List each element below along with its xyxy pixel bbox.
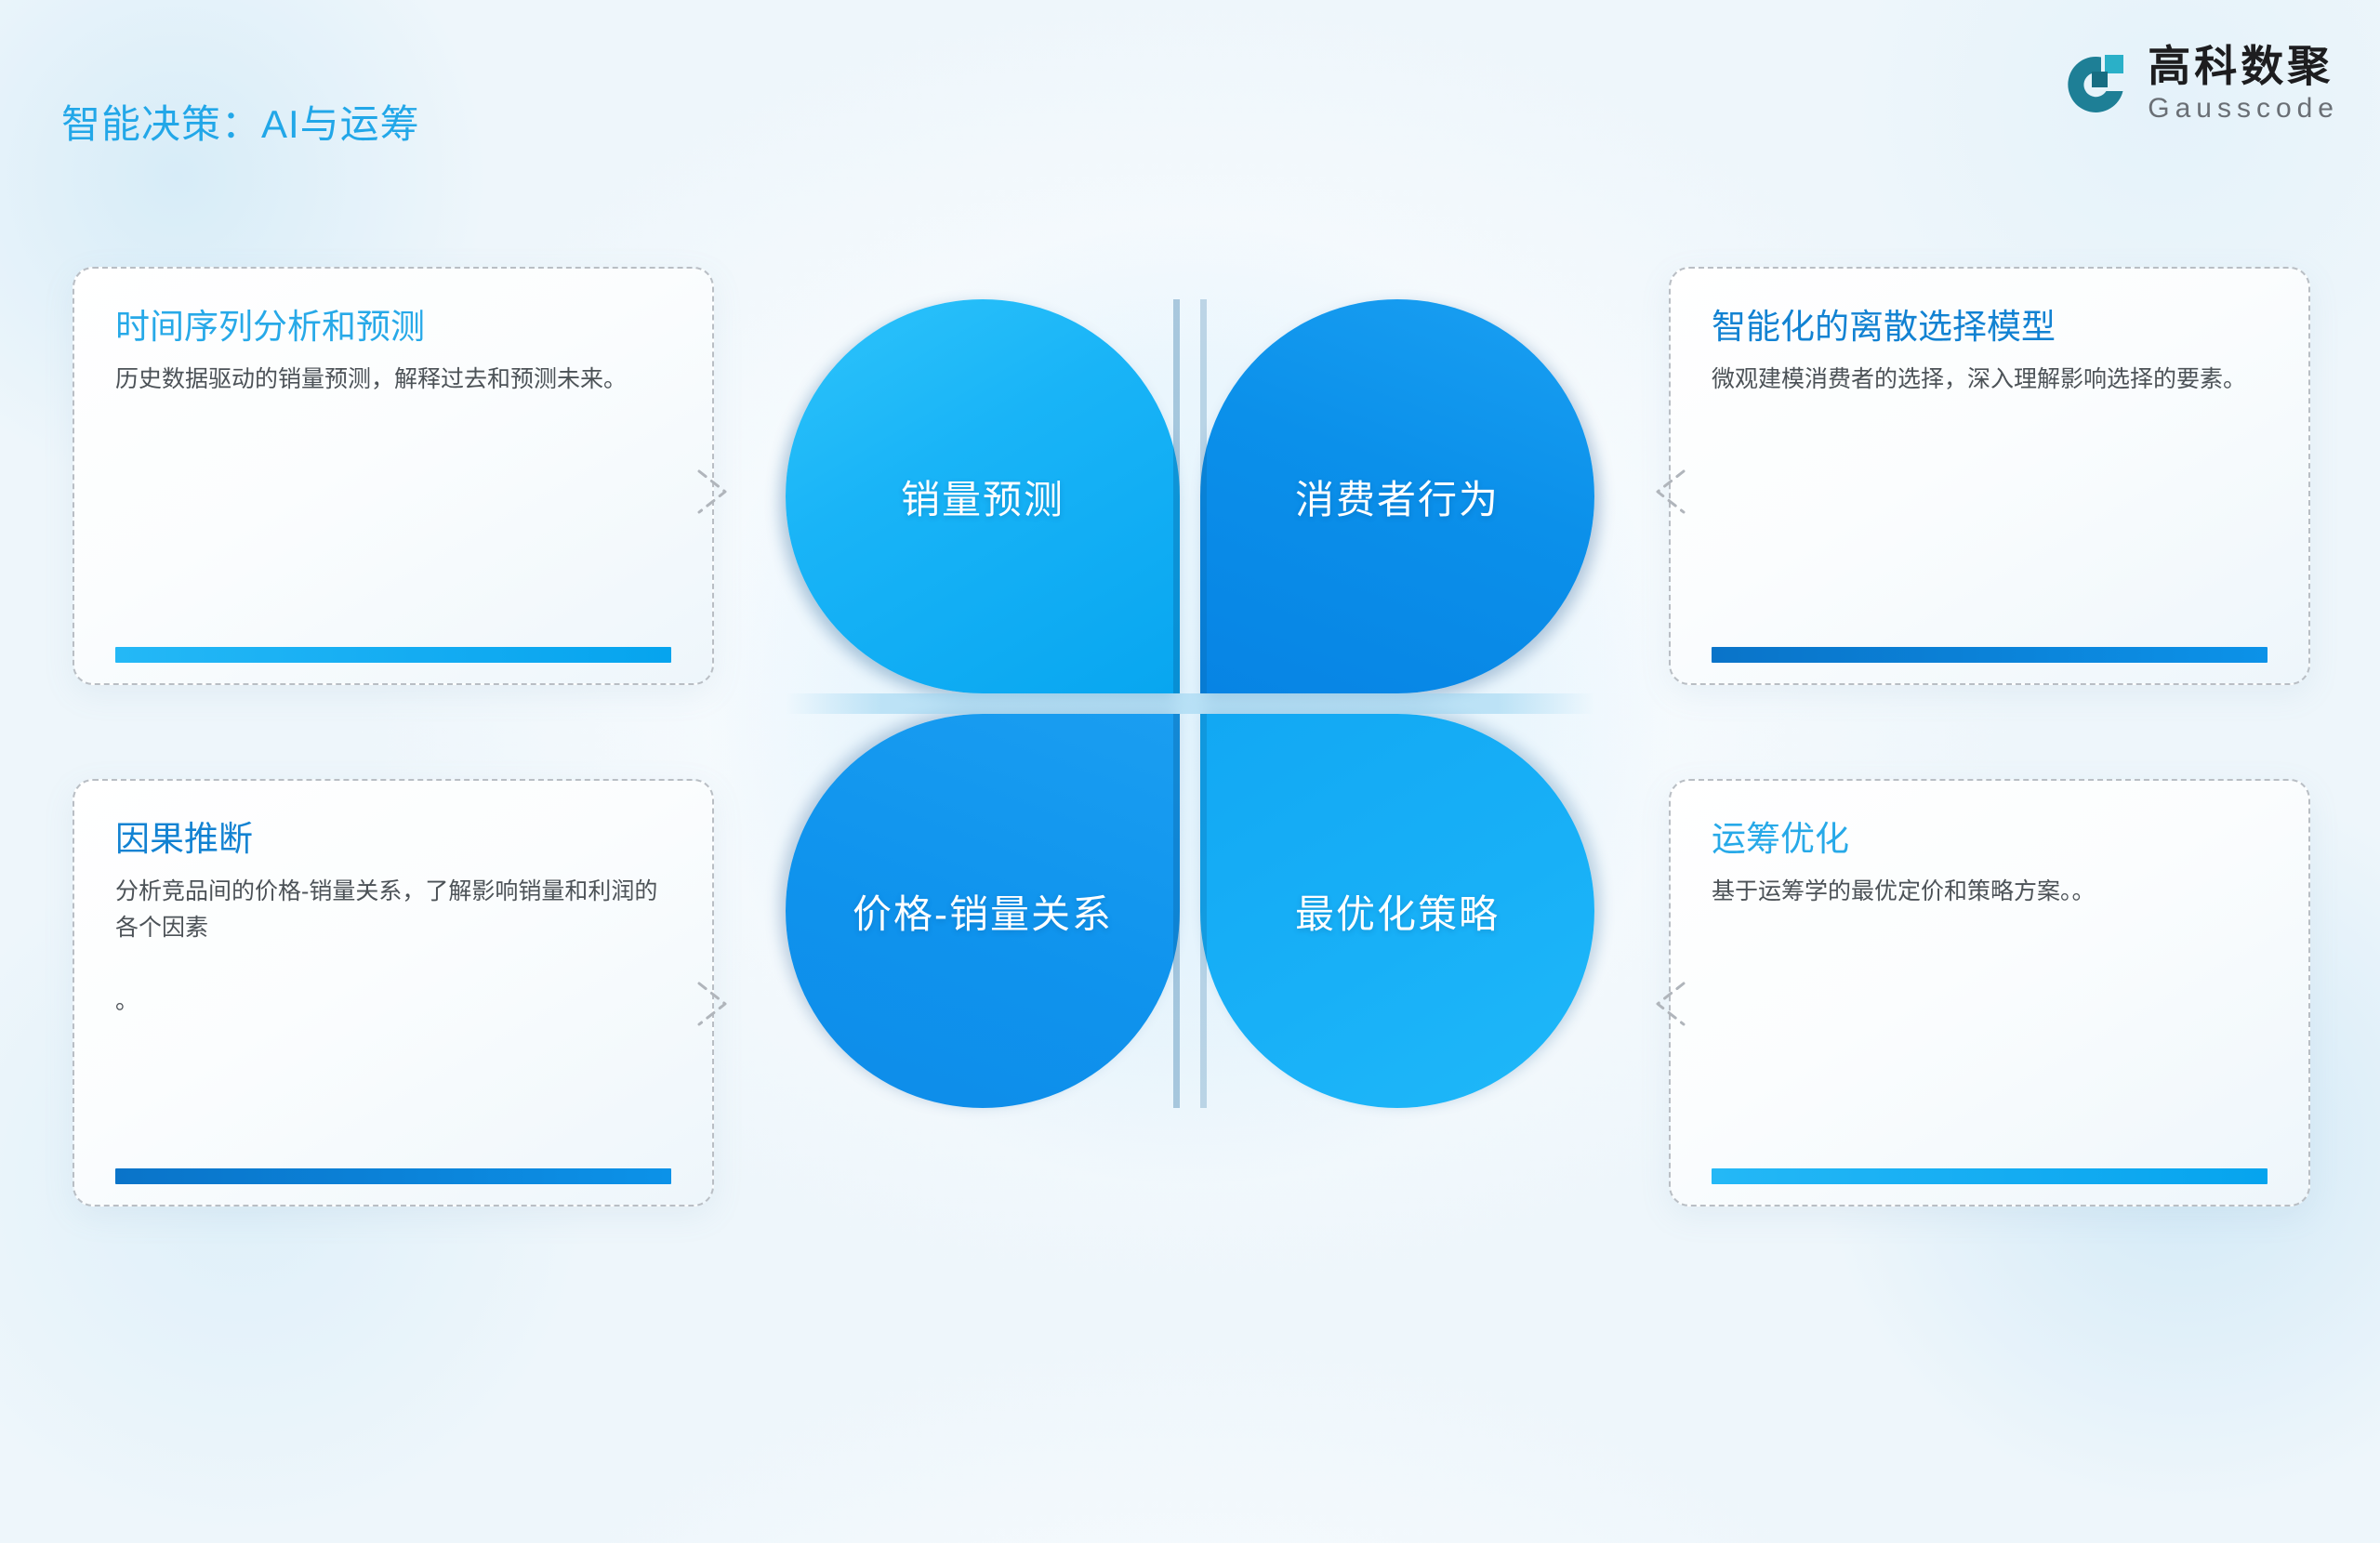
- card-body: 历史数据驱动的销量预测，解释过去和预测未来。: [115, 362, 671, 398]
- petal-inner-rim: [1200, 714, 1207, 1108]
- chevron-right-icon: [694, 976, 733, 1032]
- card-title: 因果推断: [115, 818, 671, 861]
- logo-name-cn: 高科数聚: [2148, 45, 2339, 87]
- chevron-left-icon: [1650, 464, 1689, 520]
- gausscode-g-mark-icon: [2058, 47, 2131, 120]
- card-title: 智能化的离散选择模型: [1712, 306, 2268, 349]
- card-discrete-choice-model[interactable]: 智能化的离散选择模型 微观建模消费者的选择，深入理解影响选择的要素。: [1669, 267, 2310, 685]
- petal-inner-rim: [1200, 299, 1207, 693]
- petal-inner-rim: [1173, 714, 1180, 1108]
- card-title: 运筹优化: [1712, 818, 2268, 861]
- petal-label: 价格-销量关系: [853, 883, 1113, 940]
- brand-logo: 高科数聚 Gausscode: [2058, 45, 2339, 123]
- card-accent-bar: [115, 1168, 671, 1184]
- card-body: 微观建模消费者的选择，深入理解影响选择的要素。: [1712, 362, 2268, 398]
- page-title: 智能决策：AI与运筹: [61, 93, 420, 150]
- card-body: 基于运筹学的最优定价和策略方案。。: [1712, 874, 2268, 910]
- petal-label: 消费者行为: [1295, 468, 1500, 525]
- petal-horizontal-gap: [786, 693, 1594, 714]
- petal-price-sales-relation[interactable]: 价格-销量关系: [786, 714, 1180, 1108]
- card-time-series[interactable]: 时间序列分析和预测 历史数据驱动的销量预测，解释过去和预测未来。: [73, 267, 714, 685]
- petal-optimization-strategy[interactable]: 最优化策略: [1200, 714, 1594, 1108]
- card-accent-bar: [1712, 647, 2268, 663]
- flower-diagram: 销量预测 消费者行为 价格-销量关系 最优化策略: [786, 299, 1594, 1108]
- petal-label: 最优化策略: [1295, 883, 1500, 940]
- card-body-extra: 。: [115, 983, 671, 1020]
- card-operations-optimization[interactable]: 运筹优化 基于运筹学的最优定价和策略方案。。: [1669, 779, 2310, 1207]
- chevron-left-icon: [1650, 976, 1689, 1032]
- petal-sales-forecast[interactable]: 销量预测: [786, 299, 1180, 693]
- chevron-right-icon: [694, 464, 733, 520]
- petal-label: 销量预测: [901, 468, 1064, 525]
- card-title: 时间序列分析和预测: [115, 306, 671, 349]
- petal-consumer-behavior[interactable]: 消费者行为: [1200, 299, 1594, 693]
- petal-inner-rim: [1173, 299, 1180, 693]
- card-causal-inference[interactable]: 因果推断 分析竞品间的价格-销量关系，了解影响销量和利润的各个因素 。: [73, 779, 714, 1207]
- logo-name-en: Gausscode: [2148, 95, 2339, 123]
- card-accent-bar: [115, 647, 671, 663]
- card-accent-bar: [1712, 1168, 2268, 1184]
- card-body: 分析竞品间的价格-销量关系，了解影响销量和利润的各个因素: [115, 874, 671, 946]
